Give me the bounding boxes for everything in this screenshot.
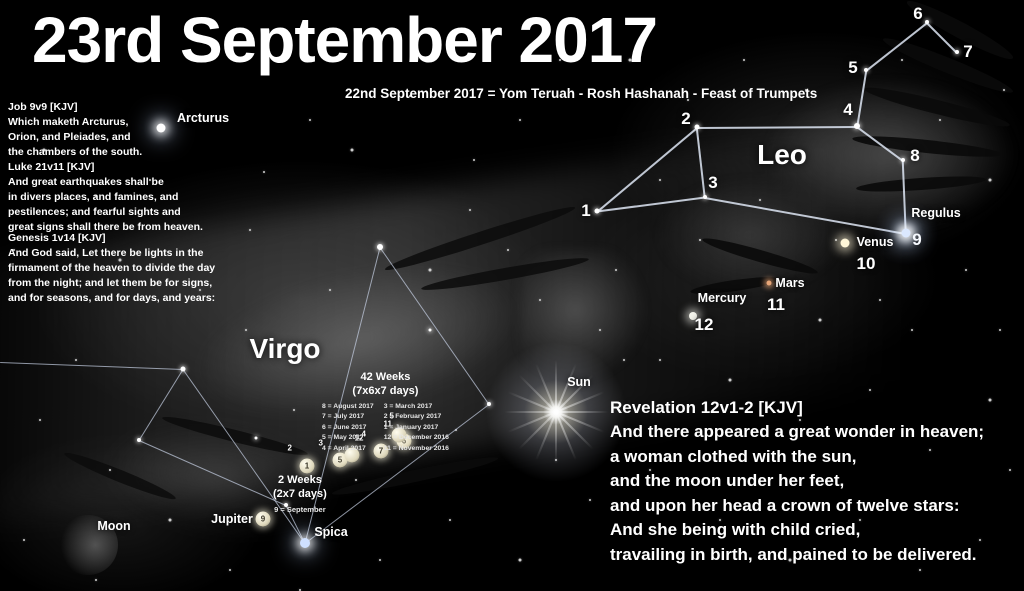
field-star [229,569,231,571]
leo-star-number-8: 8 [910,146,919,166]
2-weeks-box: 2 Weeks(2x7 days)9 = September [273,473,327,514]
annotation-month-entry: 3 = March 2017 [384,402,449,413]
leo-star-number-4: 4 [843,100,852,120]
field-star [729,379,732,382]
revelation-line: travailing in birth, and pained to be de… [610,543,984,567]
crown-star-orb: 9 [256,512,271,527]
label-mars: Mars [775,276,804,290]
sun-glow [481,337,631,487]
crown-star-1: 12 [300,459,315,474]
field-star [469,209,471,211]
field-star [109,469,111,471]
label-sun: Sun [567,375,591,389]
annotation-month-entry: 7 = July 2017 [322,412,374,423]
annotation-subheading: (2x7 days) [273,487,327,501]
field-star [75,359,77,361]
field-star [449,519,451,521]
revelation-lines: And there appeared a great wonder in hea… [610,420,984,567]
leo-star-5 [864,68,868,72]
field-star [39,419,41,421]
field-star [965,269,967,271]
field-star [539,299,541,301]
crown-star-tag-2: 2 [288,444,292,453]
scripture-line: And great earthquakes shall be [8,175,203,190]
virgo-star [255,437,258,440]
field-star [519,559,522,562]
field-star [245,329,247,331]
field-star [429,269,432,272]
revelation-line: a woman clothed with the sun, [610,445,984,469]
scripture-line: pestilences; and fearful sights and [8,205,203,220]
scripture-line: And God said, Let there be lights in the [8,246,215,261]
field-star [95,579,97,581]
field-star [249,229,251,231]
annotation-month-column-right: 3 = March 20172 = February 20171 = Janua… [384,402,449,455]
label-jupiter: Jupiter [211,512,253,526]
field-star [599,329,601,331]
field-star [879,299,881,301]
leo-star-number-6: 6 [913,4,922,24]
crown-star-orb: 1 [300,459,315,474]
field-star [309,119,311,121]
field-star [1003,89,1005,91]
star-regulus [902,229,911,238]
revelation-quote: Revelation 12v1-2 [KJV] And there appear… [610,396,984,567]
revelation-line: And there appeared a great wonder in hea… [610,420,984,444]
field-star [819,319,822,322]
revelation-line: and the moon under her feet, [610,469,984,493]
field-star [169,519,172,522]
field-star [743,59,745,61]
scripture-line: and for seasons, and for days, and years… [8,291,215,306]
planet-number-12: 12 [695,315,714,335]
annotation-month-entry: 8 = August 2017 [322,402,374,413]
revelation-line: and upon her head a crown of twelve star… [610,494,984,518]
revelation-reference: Revelation 12v1-2 [KJV] [610,396,984,420]
planet-venus [841,239,850,248]
field-star [1009,469,1011,471]
field-star [293,409,295,411]
page-subtitle: 22nd September 2017 = Yom Teruah - Rosh … [345,86,817,101]
annotation-note: 9 = September [273,505,327,514]
leo-star-number-7: 7 [963,42,972,62]
scripture-2: Luke 21v11 [KJV]And great earthquakes sh… [8,160,203,235]
field-star [919,569,921,571]
field-star [263,171,265,173]
field-star [659,359,661,361]
label-spica: Spica [314,525,347,539]
annotation-month-entry: 11 = November 2016 [384,444,449,455]
annotation-month-entry: 2 = February 2017 [384,412,449,423]
leo-star-number-5: 5 [848,58,857,78]
field-star [351,149,354,152]
field-star [989,179,992,182]
annotation-month-entry: 4 = April 2017 [322,444,374,455]
field-star [329,289,331,291]
field-star [999,329,1001,331]
scripture-line: Which maketh Arcturus, [8,115,142,130]
annotation-month-entry: 6 = June 2017 [322,423,374,434]
field-star [699,239,701,241]
leo-star-8 [901,158,905,162]
leo-star-number-2: 2 [681,109,690,129]
label-regulus: Regulus [911,206,960,220]
scripture-reference: Job 9v9 [KJV] [8,100,142,115]
constellation-label-leo: Leo [757,139,807,171]
annotation-heading: 42 Weeks [322,370,449,384]
scripture-reference: Luke 21v11 [KJV] [8,160,203,175]
scripture-reference: Genesis 1v14 [KJV] [8,231,215,246]
page-title: 23rd September 2017 [32,8,657,72]
field-star [23,539,25,541]
leo-lion-silhouette [640,60,1024,350]
field-star [759,199,761,201]
planet-mars [767,281,772,286]
annotation-month-column-left: 8 = August 20177 = July 20176 = June 201… [322,402,374,455]
annotation-month-list: 8 = August 20177 = July 20176 = June 201… [322,402,449,455]
label-moon: Moon [97,519,130,533]
scripture-line: Orion, and Pleiades, and [8,130,142,145]
scripture-line: the chambers of the south. [8,145,142,160]
scripture-line: firmament of the heaven to divide the da… [8,261,215,276]
virgo-star [137,438,141,442]
revelation-line: And she being with child cried, [610,518,984,542]
leo-star-3 [703,195,707,199]
virgo-star [377,244,383,250]
star-chart-poster: 123456789 ArcturusRegulusSpicaSunMoonVen… [0,0,1024,591]
scripture-1: Job 9v9 [KJV]Which maketh Arcturus,Orion… [8,100,142,160]
field-star [519,119,521,121]
annotation-subheading: (7x6x7 days) [322,384,449,398]
field-star [835,239,837,241]
leo-star-2 [695,125,700,130]
crown-star-9: 9 [256,512,271,527]
field-star [589,499,591,501]
scripture-3: Genesis 1v14 [KJV]And God said, Let ther… [8,231,215,306]
field-star [939,119,941,121]
star-spica [300,538,310,548]
leo-star-4 [854,123,860,129]
constellation-label-virgo: Virgo [249,333,320,365]
field-star [473,159,475,161]
planet-number-10: 10 [857,254,876,274]
field-star [355,479,357,481]
annotation-month-entry: 1 = January 2017 [384,423,449,434]
leo-star-number-3: 3 [708,173,717,193]
annotation-month-entry: 5 = May 2017 [322,433,374,444]
annotation-heading: 2 Weeks [273,473,327,487]
field-star [911,329,913,331]
leo-star-7 [955,50,959,54]
scripture-line: in divers places, and famines, and [8,190,203,205]
leo-star-number-1: 1 [581,201,590,221]
field-star [901,59,903,61]
label-venus: Venus [857,235,894,249]
field-star [659,179,661,181]
leo-star-6 [925,20,929,24]
field-star [379,559,381,561]
planet-number-11: 11 [767,295,785,315]
annotation-month-entry: 12 = December 2016 [384,433,449,444]
field-star [869,389,871,391]
leo-star-1 [595,209,600,214]
virgo-star [429,329,432,332]
field-star [989,399,992,402]
leo-star-number-9: 9 [912,230,921,250]
field-star [615,269,617,271]
label-mercury: Mercury [698,291,747,305]
42-weeks-box: 42 Weeks(7x6x7 days)8 = August 20177 = J… [322,370,449,454]
star-arcturus [157,124,166,133]
field-star [623,359,625,361]
label-arcturus: Arcturus [177,111,229,125]
scripture-line: from the night; and let them be for sign… [8,276,215,291]
virgo-star [181,367,186,372]
field-star [507,249,509,251]
